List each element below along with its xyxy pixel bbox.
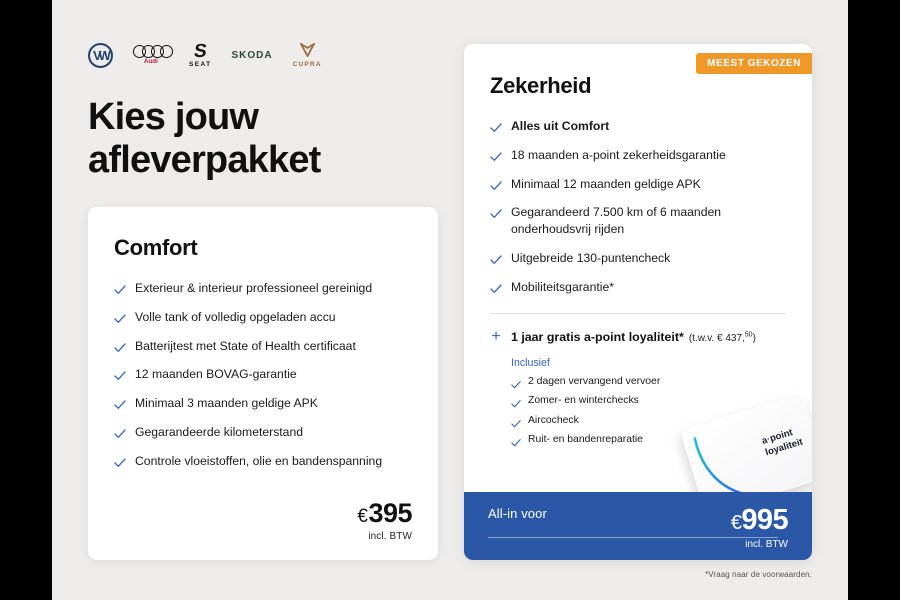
list-item: Uitgebreide 130-puntencheck: [490, 250, 786, 267]
seat-logo-icon: S SEAT: [189, 42, 211, 68]
list-item-label: Batterijtest met State of Health certifi…: [135, 338, 356, 355]
audi-wordmark: Audi: [144, 59, 158, 65]
check-icon: [511, 435, 521, 445]
list-item: Minimaal 3 maanden geldige APK: [114, 395, 412, 412]
currency-symbol: €: [357, 506, 367, 527]
list-item: 2 dagen vervangend vervoer: [511, 375, 786, 389]
loyalty-headline-row: + 1 jaar gratis a-point loyaliteit*(t.w.…: [490, 328, 786, 346]
comfort-title: Comfort: [114, 235, 412, 261]
list-item: Volle tank of volledig opgeladen accu: [114, 309, 412, 326]
check-icon: [114, 398, 126, 410]
loyalty-worth-suffix: ): [753, 333, 756, 344]
vw-ring-icon: VW: [88, 43, 113, 68]
zekerheid-feature-list: Alles uit Comfort 18 maanden a-point zek…: [490, 118, 786, 296]
audi-logo-icon: Audi: [133, 45, 169, 65]
page-title-line-1: Kies jouw: [88, 96, 258, 138]
list-item: Gegarandeerde kilometerstand: [114, 424, 412, 441]
list-item: Mobiliteitsgarantie*: [490, 279, 786, 296]
brand-logo-strip: VW Audi S SEAT SKODA: [88, 38, 322, 72]
list-item: Minimaal 12 maanden geldige APK: [490, 176, 786, 193]
section-divider: [490, 313, 786, 314]
check-icon: [490, 253, 502, 265]
list-item-label: Volle tank of volledig opgeladen accu: [135, 309, 336, 326]
content-stage: VW Audi S SEAT SKODA: [52, 0, 848, 600]
list-item-label: Ruit- en bandenreparatie: [528, 433, 643, 447]
skoda-wordmark: SKODA: [231, 50, 272, 61]
comfort-price: €395: [357, 500, 412, 527]
list-item: 18 maanden a-point zekerheidsgarantie: [490, 147, 786, 164]
page-title-line-2: afleverpakket: [88, 139, 321, 181]
currency-symbol: €: [731, 512, 742, 534]
list-item-label: Exterieur & interieur professioneel gere…: [135, 280, 372, 297]
status-badge: MEEST GEKOZEN: [696, 53, 812, 74]
list-item-label: 12 maanden BOVAG-garantie: [135, 366, 297, 383]
check-icon: [114, 283, 126, 295]
skoda-logo-icon: SKODA: [231, 50, 272, 61]
list-item: Zomer- en winterchecks: [511, 394, 786, 408]
comfort-price-block: €395 incl. BTW: [357, 500, 412, 542]
list-item-label: 18 maanden a-point zekerheidsgarantie: [511, 147, 726, 164]
check-icon: [490, 121, 502, 133]
list-item: Alles uit Comfort: [490, 118, 786, 135]
zekerheid-price-footer: All-in voor €995 incl. BTW: [464, 492, 812, 560]
list-item: Controle vloeistoffen, olie en bandenspa…: [114, 453, 412, 470]
loyalty-worth: (t.w.v. € 437,50): [689, 333, 756, 344]
check-icon: [114, 312, 126, 324]
check-icon: [511, 416, 521, 426]
cupra-wordmark: CUPRA: [293, 61, 322, 68]
check-icon: [114, 369, 126, 381]
letterbox-bar-right: [848, 0, 900, 600]
cupra-logo-icon: CUPRA: [293, 43, 322, 68]
check-icon: [114, 341, 126, 353]
check-icon: [511, 377, 521, 387]
list-item: Exterieur & interieur professioneel gere…: [114, 280, 412, 297]
check-icon: [511, 396, 521, 406]
list-item-label: Gegarandeerde kilometerstand: [135, 424, 303, 441]
list-item-label: Minimaal 3 maanden geldige APK: [135, 395, 318, 412]
inclusief-label: Inclusief: [511, 357, 786, 369]
check-icon: [490, 179, 502, 191]
allin-label: All-in voor: [488, 506, 547, 521]
package-card-comfort[interactable]: Comfort Exterieur & interieur profession…: [88, 207, 438, 560]
zekerheid-price: €995: [731, 506, 788, 535]
screen: VW Audi S SEAT SKODA: [0, 0, 900, 600]
check-icon: [114, 427, 126, 439]
footnote: *Vraag naar de voorwaarden.: [705, 570, 812, 579]
list-item: Batterijtest met State of Health certifi…: [114, 338, 412, 355]
zekerheid-body: Zekerheid Alles uit Comfort 18 maanden a…: [464, 44, 812, 447]
cupra-triangle-icon: [300, 43, 315, 57]
list-item-label: Aircocheck: [528, 414, 579, 428]
loyalty-worth-prefix: (t.w.v. € 437,: [689, 333, 745, 344]
zekerheid-price-block: €995 incl. BTW: [731, 506, 788, 550]
list-item: 12 maanden BOVAG-garantie: [114, 366, 412, 383]
letterbox-bar-left: [0, 0, 52, 600]
check-icon: [490, 282, 502, 294]
loyalty-worth-cents: 50: [745, 331, 753, 338]
list-item-label: Gegarandeerd 7.500 km of 6 maanden onder…: [511, 204, 786, 238]
comfort-price-note: incl. BTW: [357, 531, 412, 542]
loyalty-title: 1 jaar gratis a-point loyaliteit*: [511, 330, 684, 344]
list-item-label: Minimaal 12 maanden geldige APK: [511, 176, 701, 193]
list-item-label: Uitgebreide 130-puntencheck: [511, 250, 670, 267]
check-icon: [114, 456, 126, 468]
cupra-mark-icon: [300, 43, 315, 60]
list-item-label: 2 dagen vervangend vervoer: [528, 375, 660, 389]
comfort-feature-list: Exterieur & interieur professioneel gere…: [114, 280, 412, 470]
comfort-price-amount: 395: [368, 498, 412, 528]
audi-rings-icon: [133, 45, 169, 58]
seat-wordmark: SEAT: [189, 61, 211, 68]
list-item: Gegarandeerd 7.500 km of 6 maanden onder…: [490, 204, 786, 238]
zekerheid-title: Zekerheid: [490, 73, 786, 99]
package-card-zekerheid[interactable]: MEEST GEKOZEN Zekerheid Alles uit Comfor…: [464, 44, 812, 560]
zekerheid-price-note: incl. BTW: [731, 539, 788, 550]
volkswagen-logo-icon: VW: [88, 43, 113, 68]
check-icon: [490, 207, 502, 219]
seat-mark-icon: S: [193, 42, 208, 61]
check-icon: [490, 150, 502, 162]
page-title: Kies jouw afleverpakket: [88, 96, 321, 181]
plus-icon: +: [490, 329, 502, 345]
list-item-label: Mobiliteitsgarantie*: [511, 279, 614, 296]
list-item-label: Controle vloeistoffen, olie en bandenspa…: [135, 453, 382, 470]
list-item-label: Alles uit Comfort: [511, 118, 609, 135]
list-item-label: Zomer- en winterchecks: [528, 394, 639, 408]
zekerheid-price-amount: 995: [741, 504, 788, 536]
